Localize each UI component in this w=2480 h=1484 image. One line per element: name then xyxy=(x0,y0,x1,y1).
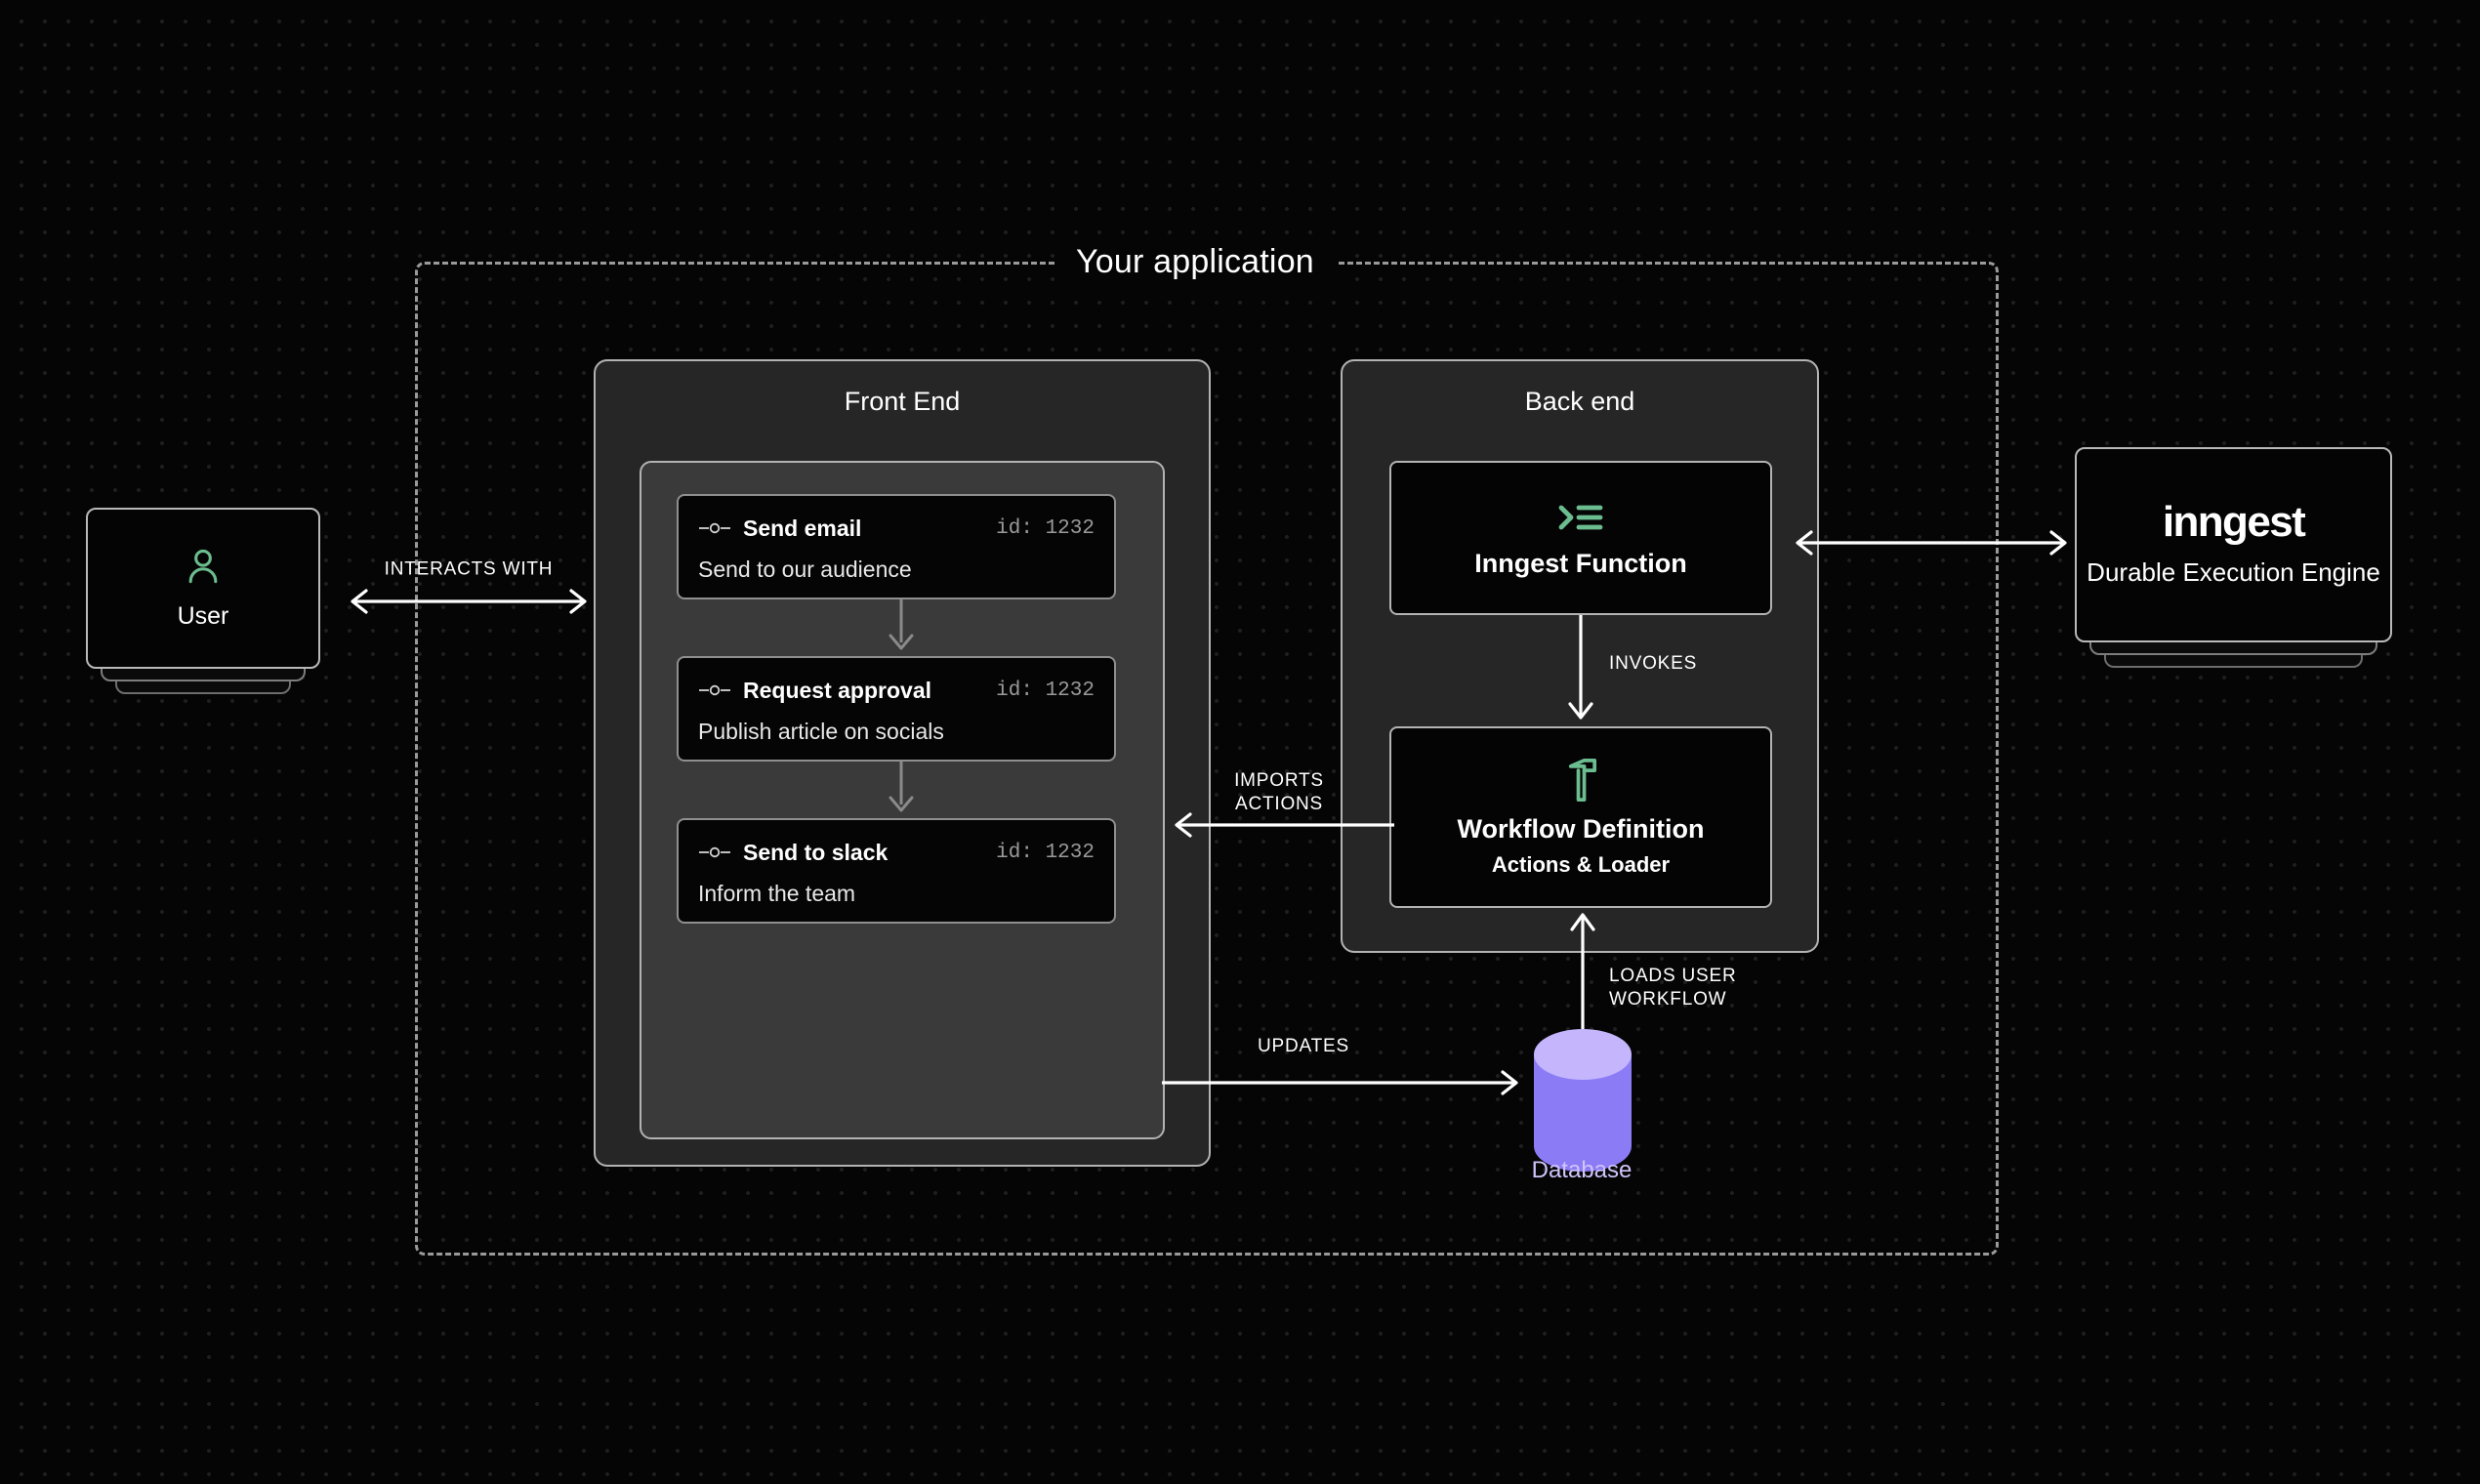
user-card-face: User xyxy=(86,508,320,669)
inngest-node[interactable]: inngest Durable Execution Engine xyxy=(2075,447,2392,642)
workflow-definition-title: Workflow Definition xyxy=(1458,814,1705,845)
workflow-step-description: Publish article on socials xyxy=(698,719,1095,745)
workflow-definition-subtitle: Actions & Loader xyxy=(1492,852,1670,878)
edge-label-loads-user-workflow: LOADS USER WORKFLOW xyxy=(1609,965,1795,1011)
edge-loads-user-workflow xyxy=(1569,908,1596,1033)
edge-label-interacts-with: INTERACTS WITH xyxy=(342,557,596,581)
database-label: Database xyxy=(1484,1157,1679,1184)
workflow-step-connector-arrow xyxy=(878,762,925,818)
inngest-subtitle: Durable Execution Engine xyxy=(2087,557,2380,588)
workflow-step-connector-arrow xyxy=(878,599,925,656)
inngest-function-title: Inngest Function xyxy=(1474,549,1686,579)
diagram-canvas: Your application User inngest Durable Ex… xyxy=(0,0,2480,1484)
person-icon xyxy=(182,545,225,588)
workflow-definition-node[interactable]: Workflow Definition Actions & Loader xyxy=(1389,726,1772,908)
edge-updates xyxy=(1160,1071,1529,1094)
inngest-function-node[interactable]: Inngest Function xyxy=(1389,461,1772,615)
backend-panel-title: Back end xyxy=(1343,387,1817,417)
edge-backend-to-inngest xyxy=(1785,531,2078,555)
workflow-node-icon xyxy=(698,683,731,697)
workflow-step-header: Send email id: 1232 xyxy=(698,514,1095,543)
workflow-node-icon xyxy=(698,521,731,535)
edge-imports-actions xyxy=(1164,813,1396,837)
workflow-step-id: id: 1232 xyxy=(996,517,1095,540)
inngest-card-face: inngest Durable Execution Engine xyxy=(2075,447,2392,642)
workflow-step-id: id: 1232 xyxy=(996,842,1095,864)
user-node[interactable]: User xyxy=(86,508,320,669)
edge-label-invokes: INVOKES xyxy=(1609,652,1765,676)
edge-user-to-frontend xyxy=(340,590,598,613)
workflow-step-id: id: 1232 xyxy=(996,680,1095,702)
user-label: User xyxy=(178,601,229,632)
workflow-step-description: Send to our audience xyxy=(698,556,1095,583)
workflow-step-header: Request approval id: 1232 xyxy=(698,676,1095,705)
edge-label-imports-actions: IMPORTS ACTIONS xyxy=(1201,769,1357,816)
workflow-step-description: Inform the team xyxy=(698,881,1095,907)
workflow-node-icon xyxy=(698,845,731,859)
application-boundary-title: Your application xyxy=(1054,237,1336,286)
workflow-step-card[interactable]: Send to slack id: 1232 Inform the team xyxy=(677,818,1116,924)
inngest-wordmark: inngest xyxy=(2163,501,2304,544)
edge-label-updates: UPDATES xyxy=(1216,1035,1391,1058)
workflow-step-card[interactable]: Send email id: 1232 Send to our audience xyxy=(677,494,1116,599)
workflow-editor-container: Send email id: 1232 Send to our audience… xyxy=(640,461,1165,1139)
frontend-panel-title: Front End xyxy=(596,387,1209,417)
workflow-step-title: Send to slack xyxy=(743,840,888,866)
terminal-icon xyxy=(1557,498,1604,537)
workflow-step-title: Request approval xyxy=(743,678,931,704)
database-cylinder-icon[interactable] xyxy=(1531,1027,1634,1174)
edge-invokes xyxy=(1567,615,1594,730)
hammer-icon xyxy=(1561,758,1600,803)
workflow-step-card[interactable]: Request approval id: 1232 Publish articl… xyxy=(677,656,1116,762)
workflow-step-header: Send to slack id: 1232 xyxy=(698,838,1095,867)
workflow-step-title: Send email xyxy=(743,515,861,542)
